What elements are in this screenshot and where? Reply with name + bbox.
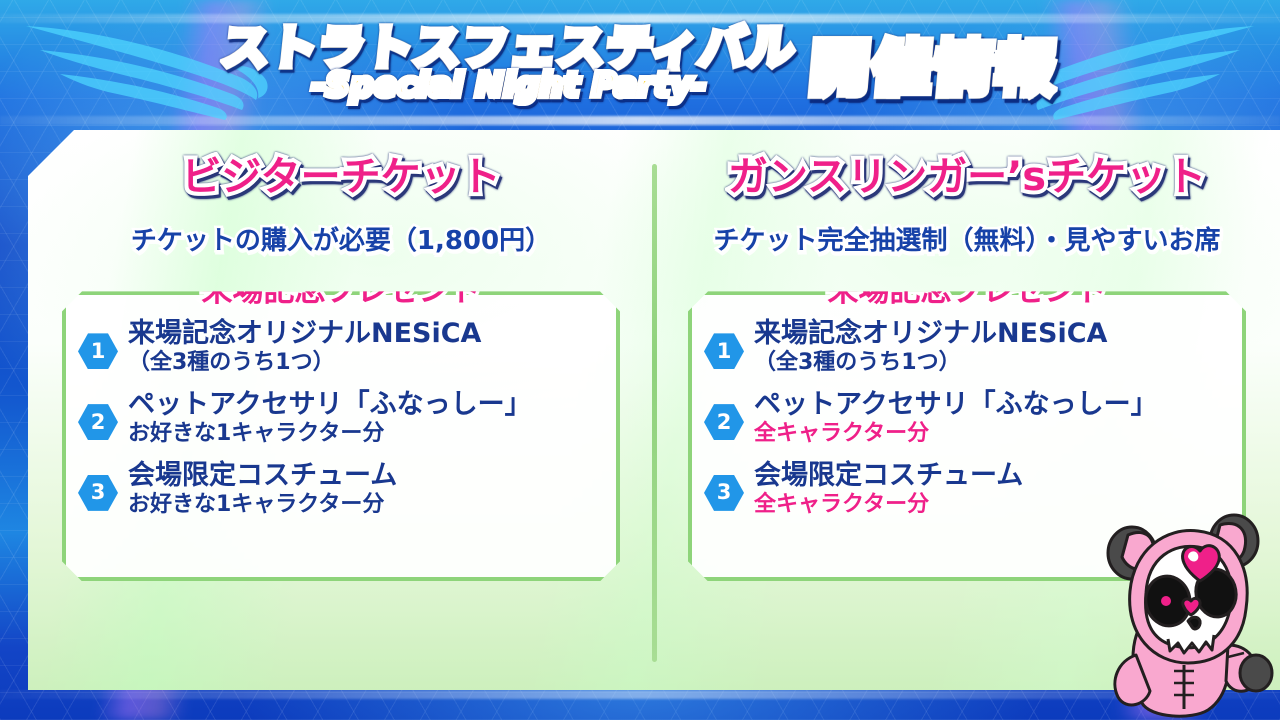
gift-text: ペットアクセサリ「ふなっしー」 お好きな1キャラクター分: [128, 390, 602, 447]
gift-main-label: ペットアクセサリ「ふなっしー」: [754, 390, 1228, 421]
gift-list-gunslinger: 1 来場記念オリジナルNESiCA （全3種のうち1つ） 2 ペットアクセサリ「…: [692, 295, 1242, 517]
gift-note-label: お好きな1キャラクター分: [128, 492, 602, 518]
hexagon-number-icon: 1: [704, 333, 744, 369]
page-subtitle: -Special Night Party-: [312, 68, 707, 101]
gift-note-label: （全3種のうち1つ）: [754, 350, 1228, 376]
hexagon-number-icon: 1: [78, 333, 118, 369]
gift-legend-visitor: 来場記念プレゼント: [188, 265, 495, 310]
gift-text: 来場記念オリジナルNESiCA （全3種のうち1つ）: [754, 319, 1228, 376]
gift-main-label: ペットアクセサリ「ふなっしー」: [128, 390, 602, 421]
hexagon-number-icon: 3: [704, 475, 744, 511]
list-item: 3 会場限定コスチューム お好きな1キャラクター分: [78, 461, 602, 518]
ticket-column-visitor: ビジターチケット チケットの購入が必要（1,800円） 来場記念プレゼント 1 …: [28, 130, 654, 690]
gift-main-label: 来場記念オリジナルNESiCA: [754, 319, 1228, 350]
hexagon-number-icon: 2: [704, 404, 744, 440]
gift-text: 来場記念オリジナルNESiCA （全3種のうち1つ）: [128, 319, 602, 376]
list-item: 1 来場記念オリジナルNESiCA （全3種のうち1つ）: [78, 319, 602, 376]
column-subtitle-visitor: チケットの購入が必要（1,800円）: [46, 220, 636, 257]
title-badge: 開催情報: [806, 20, 1062, 107]
gift-box-visitor: 来場記念プレゼント 1 来場記念オリジナルNESiCA （全3種のうち1つ） 2…: [62, 291, 620, 581]
hexagon-number-icon: 2: [78, 404, 118, 440]
list-item: 1 来場記念オリジナルNESiCA （全3種のうち1つ）: [704, 319, 1228, 376]
list-item: 2 ペットアクセサリ「ふなっしー」 お好きな1キャラクター分: [78, 390, 602, 447]
gift-text: 会場限定コスチューム お好きな1キャラクター分: [128, 461, 602, 518]
hexagon-number-icon: 3: [78, 475, 118, 511]
gift-text: ペットアクセサリ「ふなっしー」 全キャラクター分: [754, 390, 1228, 447]
list-item: 2 ペットアクセサリ「ふなっしー」 全キャラクター分: [704, 390, 1228, 447]
column-title-visitor: ビジターチケット: [46, 156, 636, 198]
gift-main-label: 会場限定コスチューム: [128, 461, 602, 492]
column-title-gunslinger: ガンスリンガー’sチケット: [672, 156, 1262, 198]
gift-legend-gunslinger: 来場記念プレゼント: [814, 265, 1121, 310]
gift-main-label: 来場記念オリジナルNESiCA: [128, 319, 602, 350]
gift-main-label: 会場限定コスチューム: [754, 461, 1228, 492]
column-subtitle-gunslinger: チケット完全抽選制（無料）・見やすいお席: [672, 220, 1262, 257]
gift-list-visitor: 1 来場記念オリジナルNESiCA （全3種のうち1つ） 2 ペットアクセサリ「…: [66, 295, 616, 517]
column-divider: [652, 164, 657, 662]
poster-stage: ストラトスフェスティバル -Special Night Party- 開催情報 …: [0, 0, 1280, 720]
gift-note-label: 全キャラクター分: [754, 421, 1228, 447]
gift-note-label: （全3種のうち1つ）: [128, 350, 602, 376]
title-stack: ストラトスフェスティバル -Special Night Party-: [222, 25, 795, 101]
gift-note-label: お好きな1キャラクター分: [128, 421, 602, 447]
pink-panda-skull-mascot: [1088, 505, 1278, 720]
poster-title: ストラトスフェスティバル -Special Night Party- 開催情報: [0, 8, 1280, 118]
